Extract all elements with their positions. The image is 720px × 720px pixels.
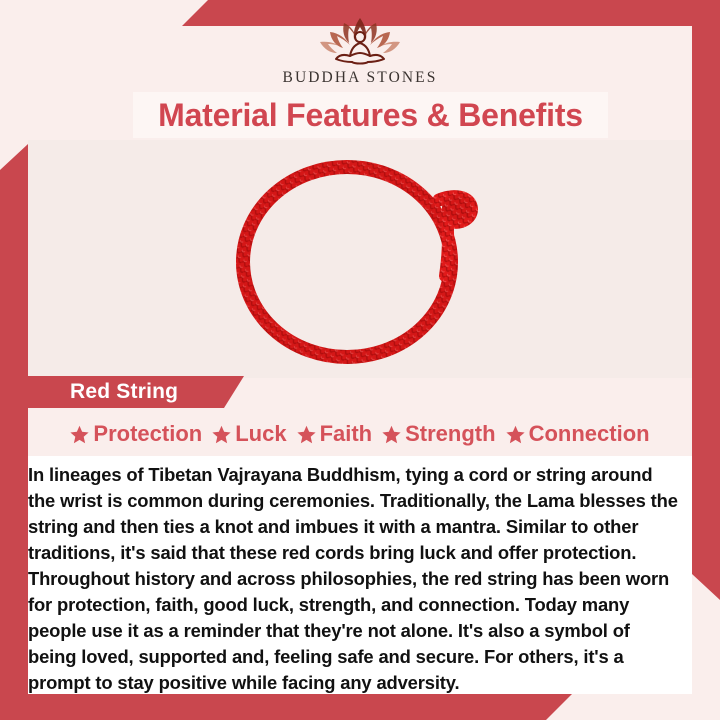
brand-name: BUDDHA STONES: [283, 69, 438, 87]
frame-bottom-band: [0, 694, 720, 720]
benefit-label: Luck: [235, 421, 286, 447]
brand-logo: BUDDHA STONES: [0, 12, 720, 92]
benefit-item-protection: Protection: [70, 421, 202, 447]
description-text: In lineages of Tibetan Vajrayana Buddhis…: [28, 462, 678, 696]
benefit-item-strength: Strength: [382, 421, 495, 447]
benefit-label: Faith: [320, 421, 373, 447]
infographic-poster: BUDDHA STONES Material Features & Benefi…: [0, 0, 720, 720]
page-title-band: Material Features & Benefits: [133, 92, 608, 138]
lotus-meditation-icon: [308, 12, 412, 68]
star-icon: [506, 425, 525, 444]
benefit-label: Strength: [405, 421, 495, 447]
red-string-bracelet-image: [225, 152, 495, 367]
product-tag: Red String: [28, 376, 244, 408]
benefit-keyword-list: Protection Luck Faith Strength Connectio: [28, 414, 692, 454]
benefit-item-faith: Faith: [297, 421, 373, 447]
benefit-label: Protection: [93, 421, 202, 447]
frame-left-band: [0, 144, 28, 720]
star-icon: [212, 425, 231, 444]
product-image-area: [28, 140, 692, 378]
product-tag-label: Red String: [70, 380, 178, 404]
star-icon: [70, 425, 89, 444]
benefit-item-luck: Luck: [212, 421, 286, 447]
benefit-item-connection: Connection: [506, 421, 650, 447]
star-icon: [382, 425, 401, 444]
star-icon: [297, 425, 316, 444]
benefit-label: Connection: [529, 421, 650, 447]
product-tag-row: Red String: [28, 376, 692, 408]
page-title: Material Features & Benefits: [158, 97, 583, 134]
description-panel: In lineages of Tibetan Vajrayana Buddhis…: [28, 456, 692, 694]
